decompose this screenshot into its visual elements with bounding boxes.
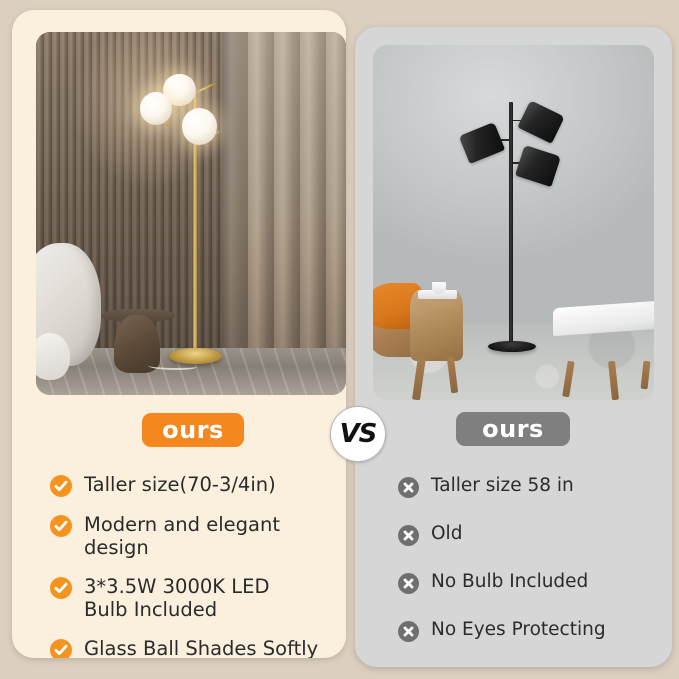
chair-ottoman	[36, 333, 70, 380]
left-feature-list: Taller size(70-3/4in) Modern and elegant…	[50, 473, 346, 658]
feature-line-1: Modern and elegant design	[84, 513, 280, 559]
check-icon	[50, 515, 72, 537]
right-product-card: ours Taller size 58 in Old	[355, 27, 672, 667]
feature-text: Modern and elegant design	[84, 513, 346, 559]
feature-row: Old	[398, 523, 660, 546]
feature-text: No Bulb Included	[431, 571, 588, 593]
feature-line-1: Old	[431, 523, 462, 544]
feature-line-1: 3*3.5W 3000K LED	[84, 575, 269, 598]
feature-row: Taller size 58 in	[398, 475, 660, 498]
feature-line-1: Taller size 58 in	[431, 475, 574, 496]
left-ours-badge: ours	[142, 413, 244, 447]
feature-line-1: Taller size(70-3/4in)	[84, 473, 276, 496]
left-photo-scene	[36, 32, 346, 395]
glass-globe-shade	[140, 92, 173, 125]
wooden-side-table	[410, 290, 463, 361]
curtain	[222, 32, 346, 366]
black-lamp-pole	[509, 102, 512, 347]
feature-text: 3*3.5W 3000K LED Bulb Included	[84, 575, 269, 621]
feature-row: No Eyes Protecting	[398, 619, 660, 642]
left-product-card: ours Taller size(70-3/4in) Modern and el…	[12, 10, 346, 658]
feature-text: Old	[431, 523, 462, 545]
feature-line-1: No Bulb Included	[431, 571, 588, 592]
x-icon	[398, 477, 419, 498]
glass-globe-shade	[182, 108, 218, 144]
feature-row: Glass Ball Shades Softly And It Is Eyes …	[50, 637, 346, 658]
black-lamp-base	[488, 341, 536, 352]
right-photo-scene	[373, 45, 654, 400]
x-icon	[398, 573, 419, 594]
feature-text: Taller size(70-3/4in)	[84, 473, 276, 496]
check-icon	[50, 475, 72, 497]
feature-row: 3*3.5W 3000K LED Bulb Included	[50, 575, 346, 621]
right-feature-list: Taller size 58 in Old No Bulb Included	[398, 475, 660, 642]
right-product-photo	[373, 45, 654, 400]
coffee-cup	[432, 282, 446, 293]
right-ours-badge: ours	[456, 412, 570, 446]
feature-line-1: Glass Ball Shades Softly And	[84, 637, 318, 658]
vs-badge: VS	[330, 406, 386, 462]
left-product-photo	[36, 32, 346, 395]
feature-row: No Bulb Included	[398, 571, 660, 594]
feature-row: Modern and elegant design	[50, 513, 346, 559]
feature-line-1: No Eyes Protecting	[431, 619, 606, 640]
check-icon	[50, 639, 72, 658]
comparison-infographic: ours Taller size(70-3/4in) Modern and el…	[0, 0, 679, 679]
power-cord	[148, 362, 198, 369]
feature-row: Taller size(70-3/4in)	[50, 473, 346, 497]
check-icon	[50, 577, 72, 599]
feature-line-2: Bulb Included	[84, 598, 269, 621]
feature-text: Glass Ball Shades Softly And It Is Eyes …	[84, 637, 346, 658]
x-icon	[398, 525, 419, 546]
x-icon	[398, 621, 419, 642]
feature-text: No Eyes Protecting	[431, 619, 606, 641]
feature-text: Taller size 58 in	[431, 475, 574, 497]
